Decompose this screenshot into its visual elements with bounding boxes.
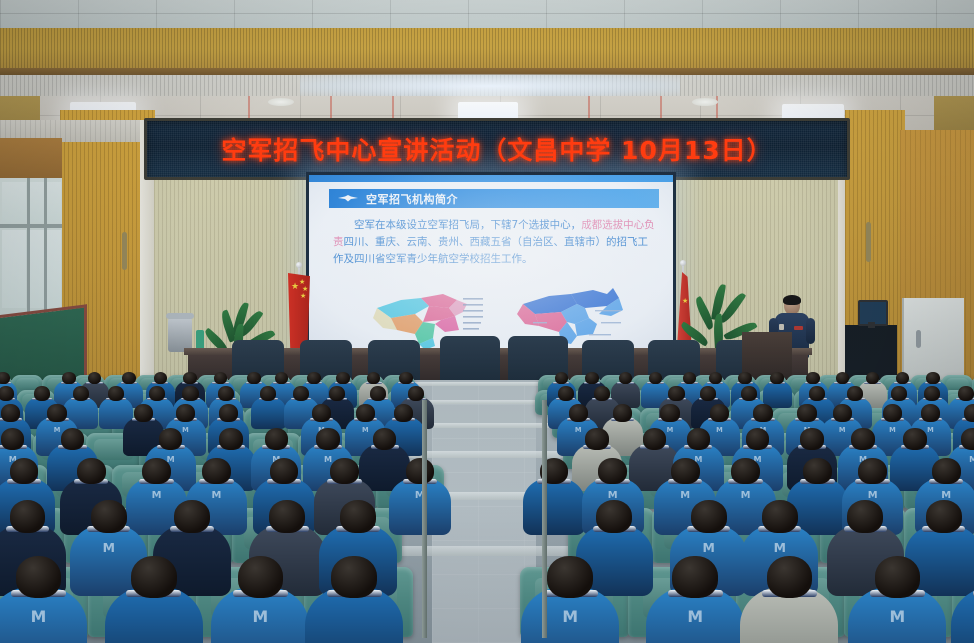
student-head bbox=[833, 404, 852, 422]
flagpole-knob-right bbox=[680, 260, 686, 266]
student-head bbox=[174, 500, 210, 533]
student-head bbox=[183, 372, 197, 384]
student-head bbox=[260, 386, 276, 401]
student-head bbox=[154, 372, 168, 384]
student-head bbox=[307, 372, 321, 384]
slide-title-bar: 空军招飞机构简介 bbox=[329, 189, 659, 208]
student bbox=[740, 556, 838, 643]
monitor-stand bbox=[868, 322, 875, 328]
student-head bbox=[10, 500, 46, 533]
water-urn bbox=[168, 318, 192, 352]
student-head bbox=[182, 386, 198, 401]
presenter-badge bbox=[794, 326, 803, 330]
student bbox=[305, 556, 403, 643]
student-head bbox=[866, 372, 880, 384]
uniform-emblem: M bbox=[687, 607, 703, 626]
student-head bbox=[803, 458, 832, 484]
student: M bbox=[521, 556, 619, 643]
student-head bbox=[238, 556, 284, 598]
student-head bbox=[700, 386, 716, 401]
window-pane bbox=[2, 182, 26, 222]
student-head bbox=[806, 372, 820, 384]
student-head bbox=[77, 458, 106, 484]
student bbox=[951, 556, 974, 643]
student-head bbox=[921, 404, 940, 422]
seat-support-leg bbox=[422, 560, 427, 638]
student-head bbox=[619, 372, 633, 384]
student-head bbox=[770, 372, 784, 384]
student-head bbox=[293, 386, 309, 401]
student-head bbox=[149, 386, 165, 401]
window-pane bbox=[2, 230, 26, 308]
student-uniform bbox=[251, 397, 286, 429]
student-head bbox=[34, 386, 50, 401]
student-head bbox=[762, 500, 798, 533]
student-head bbox=[1, 428, 24, 450]
ceiling-wood-band bbox=[0, 28, 974, 70]
student-head bbox=[336, 372, 350, 384]
student-head bbox=[0, 386, 14, 401]
presentation-slide: 空军招飞机构简介 空军在本级设立空军招飞局，下辖7个选拔中心，成都选拔中心负责四… bbox=[309, 175, 673, 359]
student-head bbox=[62, 372, 76, 384]
ceiling-speaker-2 bbox=[692, 98, 718, 106]
student-head bbox=[202, 458, 231, 484]
window-pane bbox=[30, 230, 44, 308]
student-head bbox=[660, 404, 679, 422]
student-head bbox=[671, 458, 700, 484]
student-head bbox=[47, 404, 66, 422]
student: M bbox=[0, 556, 87, 643]
student-head bbox=[265, 428, 288, 450]
student-head bbox=[598, 458, 627, 484]
student-head bbox=[932, 458, 961, 484]
student: M bbox=[389, 458, 451, 542]
student-head bbox=[961, 428, 974, 450]
uniform-emblem: M bbox=[774, 540, 786, 555]
window-pane bbox=[47, 230, 61, 308]
student-head bbox=[643, 428, 666, 450]
window-pane bbox=[30, 182, 44, 222]
student-head bbox=[270, 458, 299, 484]
student-head bbox=[746, 428, 769, 450]
uniform-emblem: M bbox=[562, 607, 578, 626]
ceiling-skylight-glow bbox=[300, 74, 680, 98]
student-head bbox=[394, 404, 413, 422]
projection-screen: 空军招飞机构简介 空军在本级设立空军招飞局，下辖7个选拔中心，成都选拔中心负责四… bbox=[306, 172, 676, 362]
student-head bbox=[687, 428, 710, 450]
student-head bbox=[710, 404, 729, 422]
student-head bbox=[219, 428, 242, 450]
student-head bbox=[16, 556, 62, 598]
student: M bbox=[646, 556, 744, 643]
wall-header-left bbox=[0, 138, 62, 180]
flagpole-knob-left bbox=[296, 262, 302, 268]
student-head bbox=[767, 556, 813, 598]
student-head bbox=[331, 556, 377, 598]
student-head bbox=[594, 386, 610, 401]
student-head bbox=[903, 428, 926, 450]
uniform-emblem: M bbox=[702, 540, 714, 555]
slide-body-part2: 四川、重庆、云南、贵州、西藏五省（自治区、直辖市）的招飞工作及四川省空军青少年航… bbox=[333, 236, 648, 265]
student-head bbox=[558, 386, 574, 401]
student-head bbox=[683, 372, 697, 384]
student-head bbox=[738, 372, 752, 384]
seat-support-leg bbox=[542, 560, 547, 638]
student-head bbox=[330, 458, 359, 484]
air-force-wing-icon bbox=[337, 194, 359, 203]
student-head bbox=[926, 500, 962, 533]
student-head bbox=[340, 500, 376, 533]
student-head bbox=[269, 500, 305, 533]
student-head bbox=[709, 372, 723, 384]
window-mullion bbox=[0, 224, 62, 228]
stage-chair-center[interactable] bbox=[440, 336, 500, 382]
cabinet-handle[interactable] bbox=[916, 330, 921, 348]
led-banner-text: 空军招飞中心宣讲活动（文昌中学 10月13日） bbox=[221, 131, 772, 167]
student-head bbox=[672, 556, 718, 598]
student-head bbox=[585, 428, 608, 450]
student-head bbox=[753, 404, 772, 422]
student-head bbox=[176, 404, 195, 422]
presenter-hair bbox=[783, 295, 801, 305]
student-head bbox=[797, 404, 816, 422]
student-head bbox=[73, 386, 89, 401]
slide-body-text: 空军在本级设立空军招飞局，下辖7个选拔中心，成都选拔中心负责四川、重庆、云南、贵… bbox=[333, 217, 655, 268]
seat-support-leg bbox=[542, 500, 547, 566]
student-head bbox=[891, 386, 907, 401]
student-head bbox=[131, 556, 177, 598]
door-handle-right[interactable] bbox=[866, 222, 871, 262]
window-pane bbox=[47, 182, 61, 222]
student-head bbox=[134, 404, 153, 422]
uniform-emblem: M bbox=[103, 540, 115, 555]
student-head bbox=[316, 428, 339, 450]
presenter-nameplate bbox=[779, 324, 784, 330]
student-head bbox=[668, 386, 684, 401]
seat-support-leg bbox=[422, 500, 427, 566]
student-head bbox=[809, 386, 825, 401]
student-head bbox=[10, 458, 39, 484]
student-head bbox=[649, 372, 663, 384]
student-head bbox=[142, 458, 171, 484]
student-head bbox=[851, 428, 874, 450]
student-head bbox=[406, 458, 435, 484]
door-handle-left[interactable] bbox=[122, 232, 127, 270]
student-head bbox=[91, 500, 127, 533]
student-head bbox=[0, 372, 10, 384]
student-head bbox=[547, 556, 593, 598]
student-head bbox=[847, 386, 863, 401]
slide-body-part1: 空军在本级设立空军招飞局，下辖7个选拔中心， bbox=[354, 219, 581, 231]
student-head bbox=[108, 386, 124, 401]
student-head bbox=[858, 458, 887, 484]
student-head bbox=[585, 372, 599, 384]
student-head bbox=[741, 386, 757, 401]
student-head bbox=[569, 404, 588, 422]
ceiling-speaker-1 bbox=[268, 98, 294, 106]
student: M bbox=[848, 556, 946, 643]
led-banner: 空军招飞中心宣讲活动（文昌中学 10月13日） bbox=[144, 118, 850, 180]
student bbox=[251, 386, 286, 433]
student bbox=[105, 556, 203, 643]
student-head bbox=[329, 386, 345, 401]
student-head bbox=[218, 386, 234, 401]
student-head bbox=[613, 404, 632, 422]
ceiling-tiles-upper bbox=[0, 0, 974, 30]
student-head bbox=[275, 372, 289, 384]
uniform-emblem: M bbox=[889, 607, 905, 626]
student-head bbox=[122, 372, 136, 384]
student-uniform bbox=[951, 587, 974, 643]
student-head bbox=[800, 428, 823, 450]
student-head bbox=[399, 372, 413, 384]
student-uniform bbox=[389, 478, 451, 535]
student-head bbox=[247, 372, 261, 384]
student-head bbox=[924, 386, 940, 401]
student-head bbox=[896, 372, 910, 384]
student-head bbox=[964, 404, 974, 422]
slide-title-text: 空军招飞机构简介 bbox=[366, 191, 458, 207]
student-head bbox=[691, 500, 727, 533]
student-head bbox=[1, 404, 20, 422]
student-head bbox=[555, 372, 569, 384]
auditorium-photo: 空军招飞中心宣讲活动（文昌中学 10月13日） 空军招飞机构简介 空军在本级设立… bbox=[0, 0, 974, 643]
student-head bbox=[356, 404, 375, 422]
student-head bbox=[370, 386, 386, 401]
student-head bbox=[373, 428, 396, 450]
student-head bbox=[883, 404, 902, 422]
student-head bbox=[926, 372, 940, 384]
student-head bbox=[159, 428, 182, 450]
student-head bbox=[958, 386, 974, 401]
student-head bbox=[408, 386, 424, 401]
uniform-emblem: M bbox=[253, 607, 269, 626]
student-head bbox=[875, 556, 921, 598]
student-head bbox=[219, 404, 238, 422]
student-head bbox=[312, 404, 331, 422]
student-head bbox=[731, 458, 760, 484]
presenter-arm-right bbox=[806, 318, 815, 344]
student-head bbox=[596, 500, 632, 533]
student: M bbox=[211, 556, 309, 643]
student-head bbox=[847, 500, 883, 533]
student-head bbox=[61, 428, 84, 450]
uniform-emblem: M bbox=[31, 607, 47, 626]
water-urn-lid bbox=[166, 313, 194, 319]
slide-top-accent bbox=[309, 175, 673, 182]
